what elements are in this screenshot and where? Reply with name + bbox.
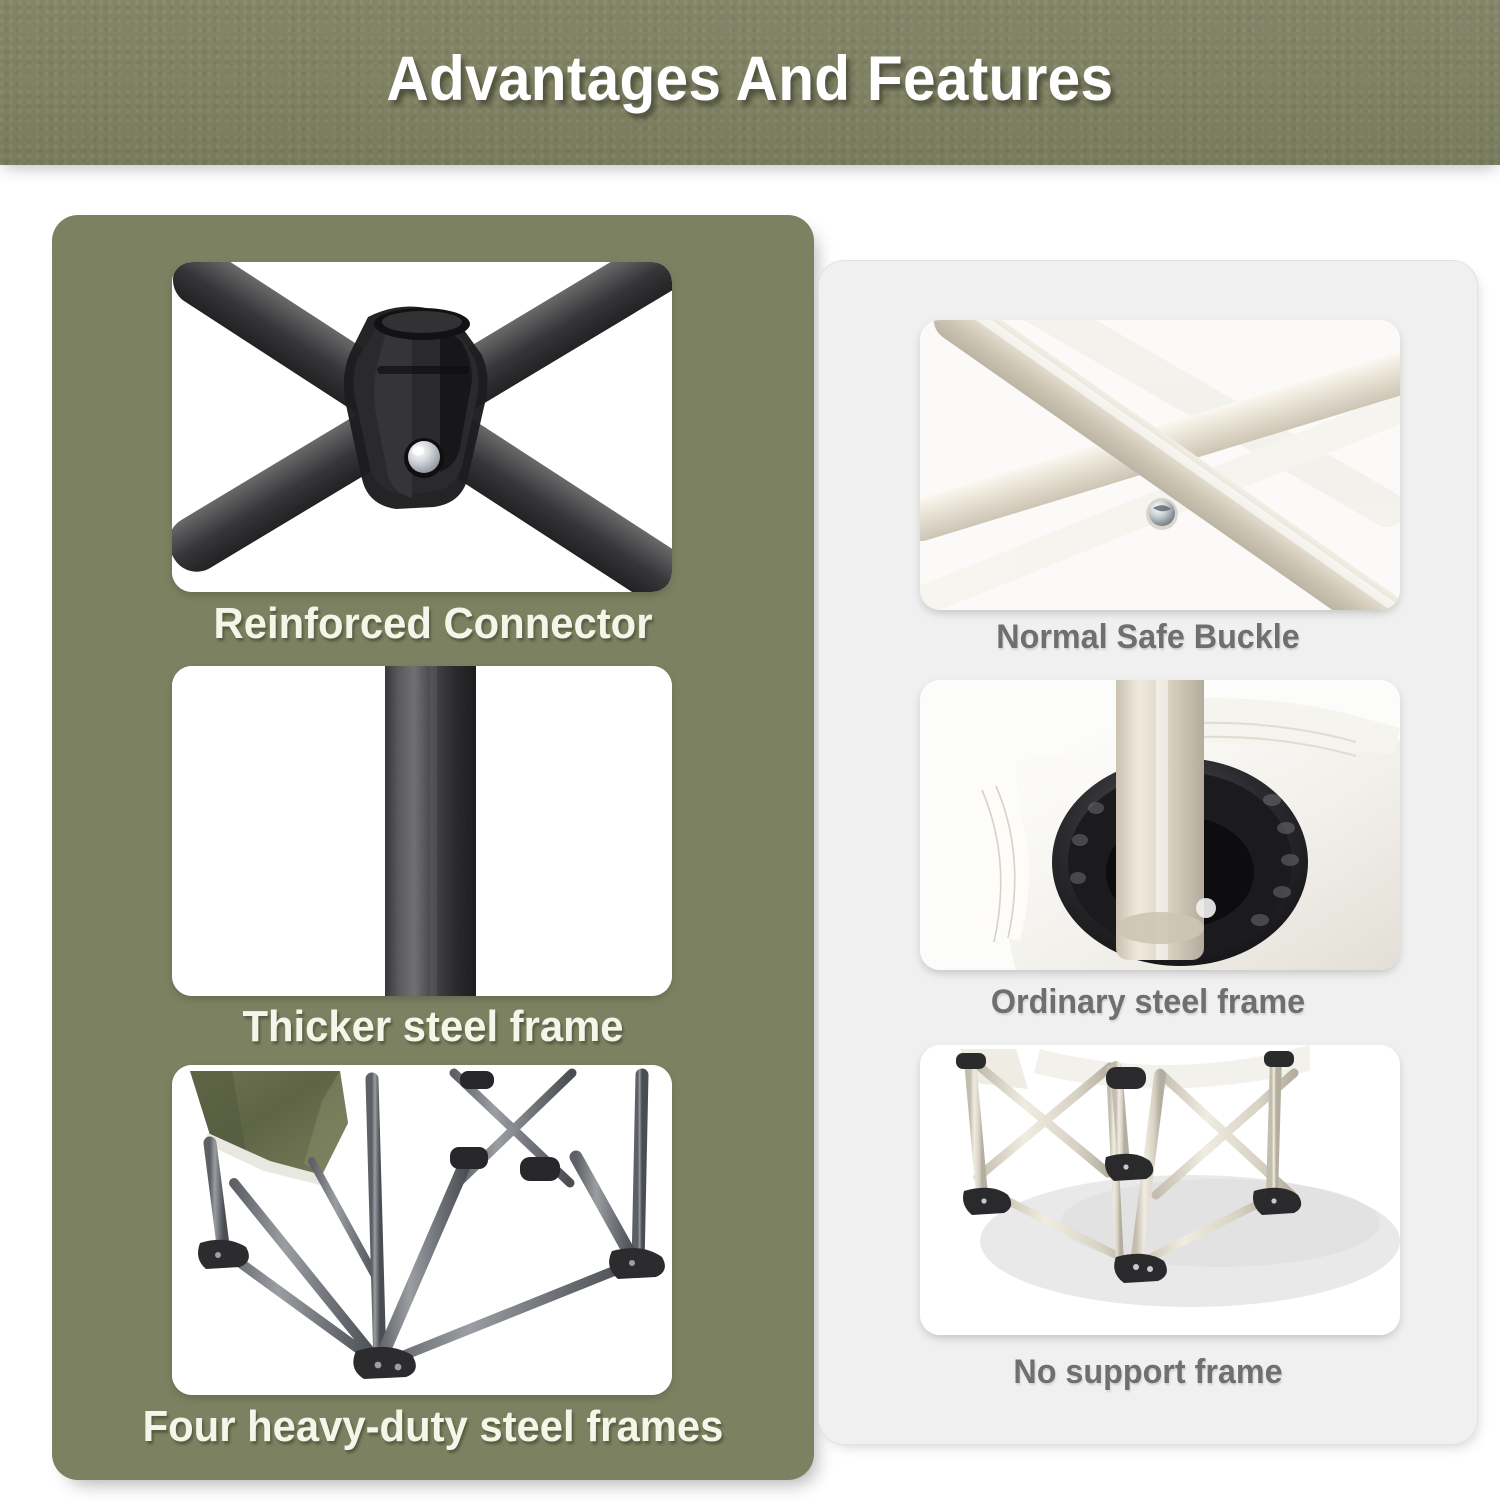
card-normal-safe-buckle — [920, 320, 1400, 610]
header-banner: Advantages And Features — [0, 0, 1500, 165]
caption-thicker-steel-frame: Thicker steel frame — [71, 1005, 795, 1049]
advantages-and-features-infographic: Advantages And Features — [0, 0, 1500, 1500]
heavy-duty-steel-frame-base-image — [172, 1065, 672, 1395]
page-title: Advantages And Features — [386, 48, 1113, 117]
card-ordinary-steel-frame — [920, 680, 1400, 970]
caption-normal-safe-buckle: Normal Safe Buckle — [835, 620, 1462, 654]
caption-no-support-frame: No support frame — [835, 1355, 1462, 1389]
card-no-support-frame — [920, 1045, 1400, 1335]
card-thicker-steel-frame — [172, 666, 672, 996]
reinforced-connector-image — [172, 262, 672, 592]
thicker-steel-tube-image — [172, 666, 672, 996]
ordinary-steel-frame-image — [920, 680, 1400, 970]
no-support-frame-image — [920, 1045, 1400, 1335]
normal-safe-buckle-image — [920, 320, 1400, 610]
caption-ordinary-steel-frame: Ordinary steel frame — [835, 985, 1462, 1019]
card-reinforced-connector — [172, 262, 672, 592]
caption-four-heavy-duty-steel-frames: Four heavy-duty steel frames — [71, 1405, 795, 1449]
caption-reinforced-connector: Reinforced Connector — [71, 602, 795, 646]
card-four-heavy-duty-steel-frames — [172, 1065, 672, 1395]
